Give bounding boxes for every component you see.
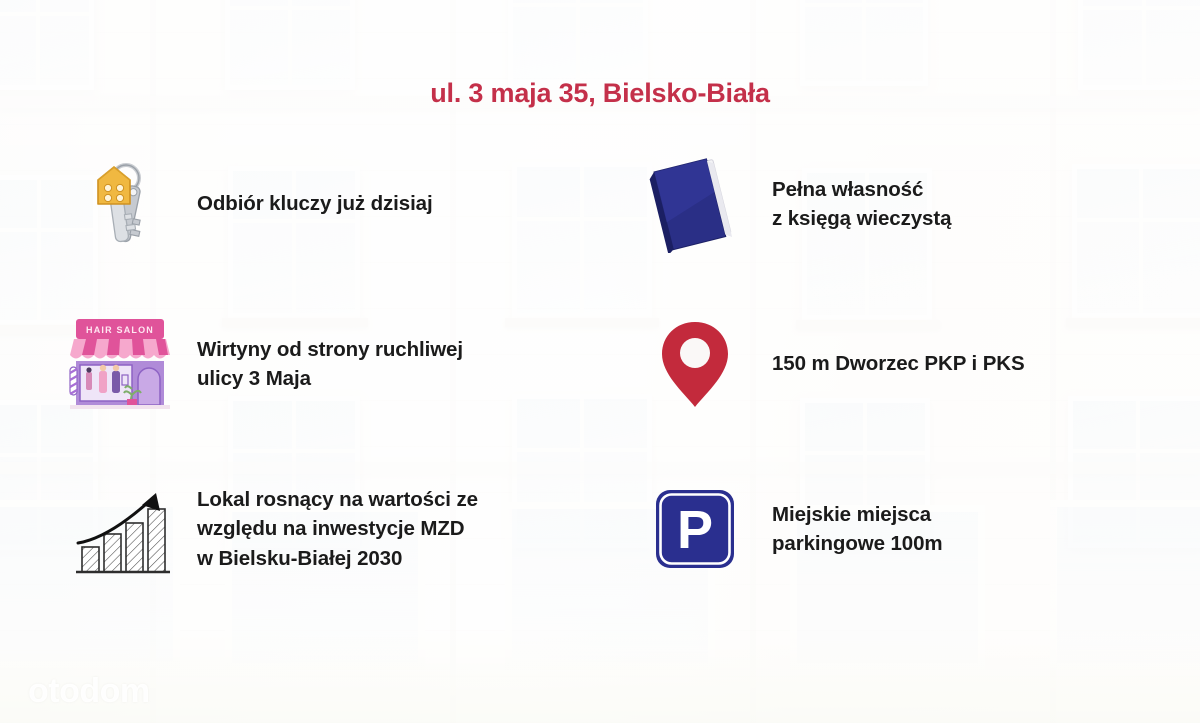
feature-storefront: HAIR SALON: [65, 310, 585, 418]
feature-text-station: 150 m Dworzec PKP i PKS: [772, 349, 1025, 378]
feature-parking: P Miejskie miejsca parkingowe 100m: [640, 475, 1180, 583]
parking-sign-icon: P: [640, 475, 750, 583]
feature-text-ownership: Pełna własność z księgą wieczystą: [772, 175, 951, 233]
feature-line: parkingowe 100m: [772, 529, 943, 558]
feature-ownership: Pełna własność z księgą wieczystą: [640, 150, 1180, 258]
feature-keys: Odbiór kluczy już dzisiaj: [65, 150, 585, 258]
feature-line: w Bielsku-Białej 2030: [197, 544, 478, 573]
parking-letter-text: P: [677, 500, 713, 560]
feature-text-growth: Lokal rosnący na wartości ze względu na …: [197, 485, 478, 572]
house-keys-icon: [65, 150, 175, 258]
feature-text-keys: Odbiór kluczy już dzisiaj: [197, 189, 433, 218]
feature-line: względu na inwestycje MZD: [197, 514, 478, 543]
feature-line: 150 m Dworzec PKP i PKS: [772, 349, 1025, 378]
feature-station: 150 m Dworzec PKP i PKS: [640, 310, 1180, 418]
page-content: ul. 3 maja 35, Bielsko-Biała: [0, 0, 1200, 723]
feature-line: z księgą wieczystą: [772, 204, 951, 233]
feature-line: Lokal rosnący na wartości ze: [197, 485, 478, 514]
feature-text-parking: Miejskie miejsca parkingowe 100m: [772, 500, 943, 558]
feature-line: Pełna własność: [772, 175, 951, 204]
feature-line: Odbiór kluczy już dzisiaj: [197, 189, 433, 218]
feature-line: ulicy 3 Maja: [197, 364, 463, 393]
page-title: ul. 3 maja 35, Bielsko-Biała: [0, 78, 1200, 109]
blue-book-icon: [640, 150, 750, 258]
hair-salon-storefront-icon: HAIR SALON: [65, 310, 175, 418]
feature-line: Miejskie miejsca: [772, 500, 943, 529]
map-pin-icon: [640, 310, 750, 418]
growth-bar-chart-icon: [65, 475, 175, 583]
feature-growth: Lokal rosnący na wartości ze względu na …: [65, 475, 585, 583]
feature-line: Wirtyny od strony ruchliwej: [197, 335, 463, 364]
otodom-logo: otodom: [28, 672, 150, 711]
hair-salon-sign-text: HAIR SALON: [86, 325, 154, 335]
feature-text-storefront: Wirtyny od strony ruchliwej ulicy 3 Maja: [197, 335, 463, 393]
